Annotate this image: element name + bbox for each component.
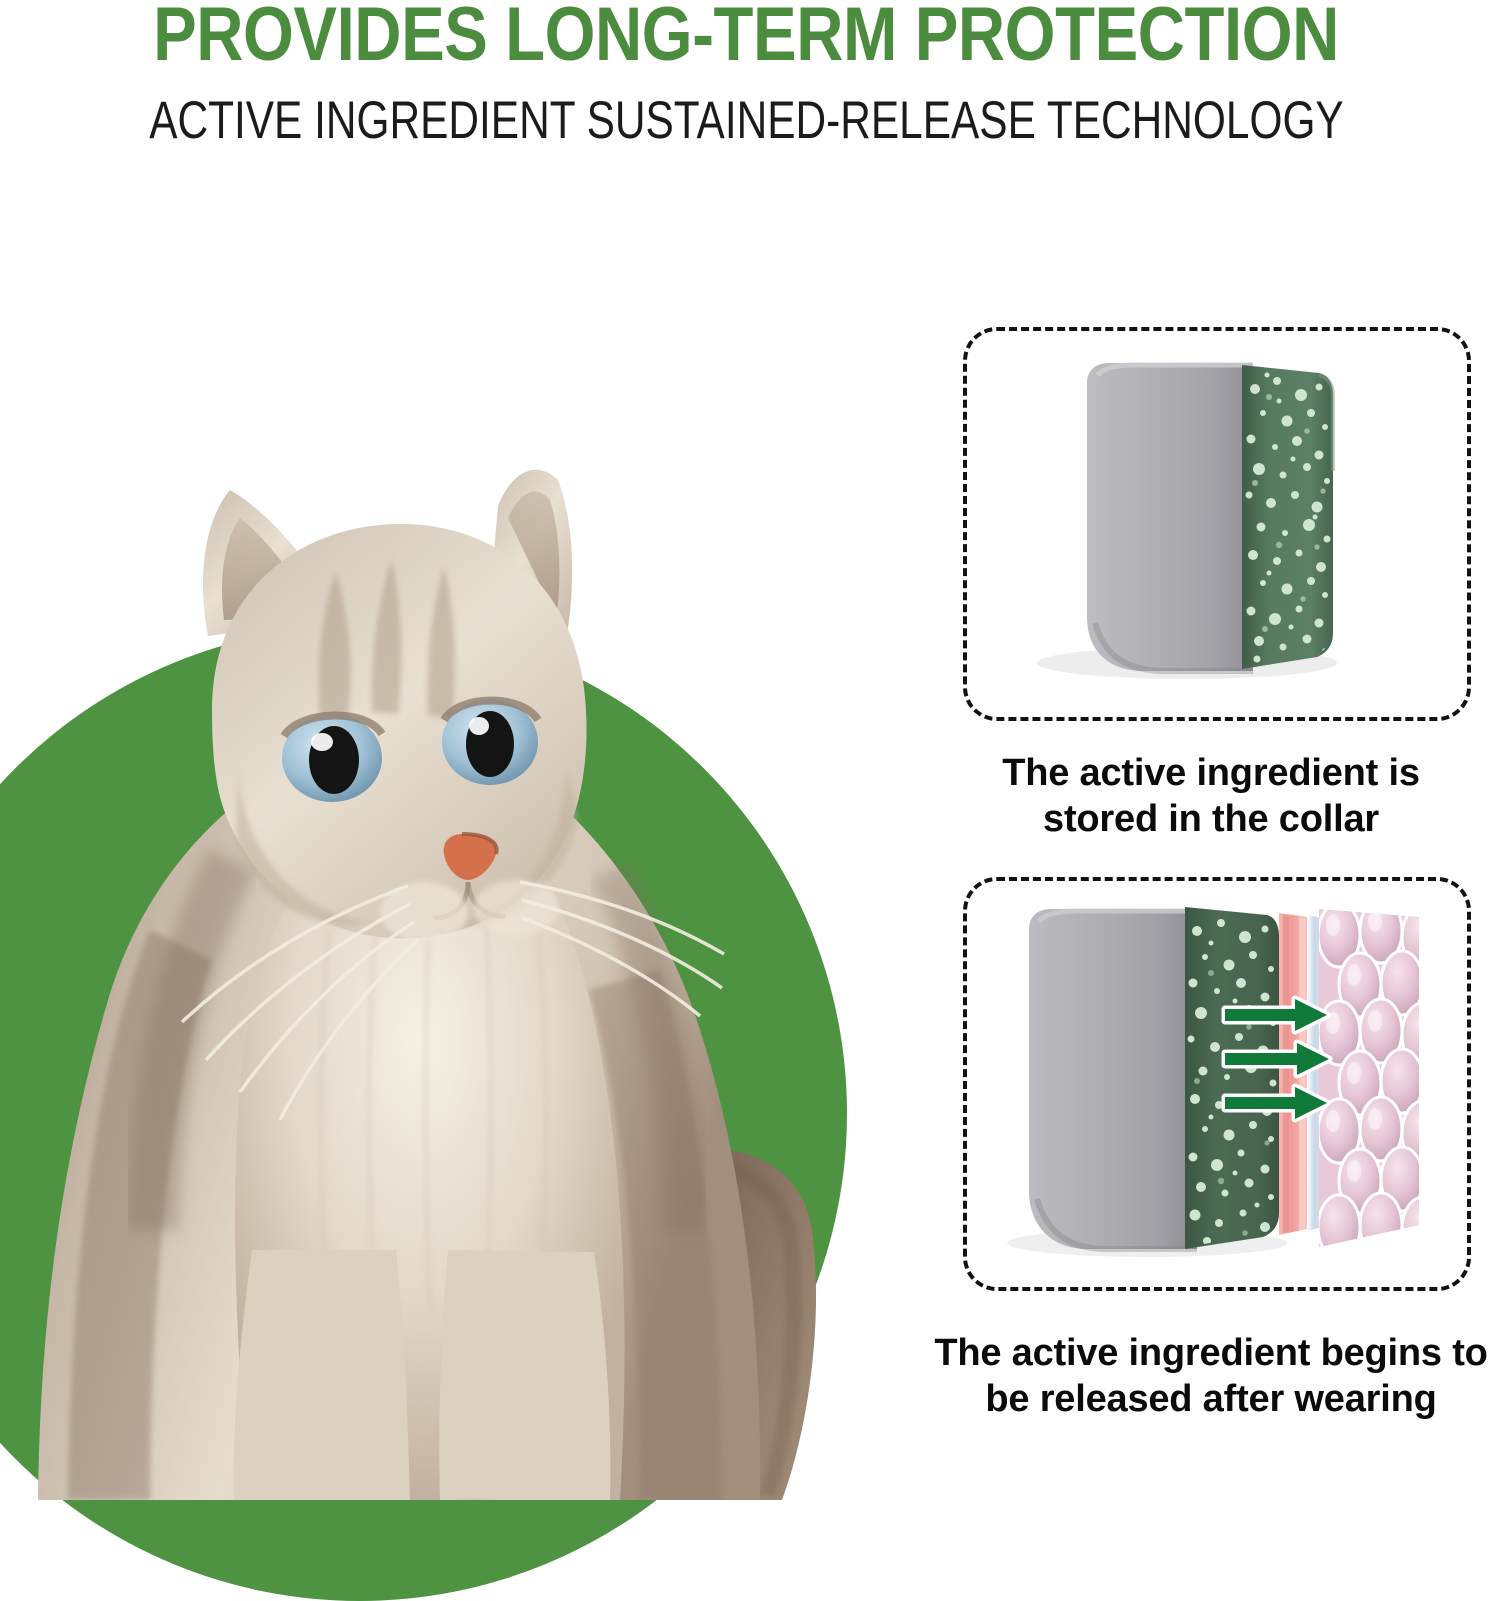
active-ingredient-layer xyxy=(1242,365,1333,669)
cell-layer xyxy=(1318,899,1444,1261)
cat-eye-left xyxy=(282,714,382,802)
page-headline: PROVIDES LONG-TERM PROTECTION xyxy=(104,0,1387,74)
panel-1-content xyxy=(967,331,1467,717)
cat-photo xyxy=(0,170,900,1500)
panel-2-content xyxy=(967,881,1467,1287)
panel-1-caption: The active ingredient is stored in the c… xyxy=(931,750,1491,842)
panel-1-caption-line2: stored in the collar xyxy=(931,796,1491,842)
page-subheadline: ACTIVE INGREDIENT SUSTAINED-RELEASE TECH… xyxy=(149,93,1343,149)
release-arrows xyxy=(1225,999,1329,1119)
diagram-panel-stored xyxy=(963,327,1471,721)
diagram-panel-releasing xyxy=(963,877,1471,1291)
cat-illustration xyxy=(0,170,900,1500)
panel-2-caption-line2: be released after wearing xyxy=(931,1376,1491,1422)
collar-cross-section-releasing-illustration xyxy=(967,881,1467,1287)
active-ingredient-layer xyxy=(1185,907,1279,1249)
panel-1-caption-line1: The active ingredient is xyxy=(931,750,1491,796)
collar-cross-section-stored-illustration xyxy=(967,331,1467,717)
cat-eye-right xyxy=(442,699,538,785)
panel-2-caption-line1: The active ingredient begins to xyxy=(931,1330,1491,1376)
panel-2-caption: The active ingredient begins to be relea… xyxy=(931,1330,1491,1422)
hero-section xyxy=(0,170,900,1500)
